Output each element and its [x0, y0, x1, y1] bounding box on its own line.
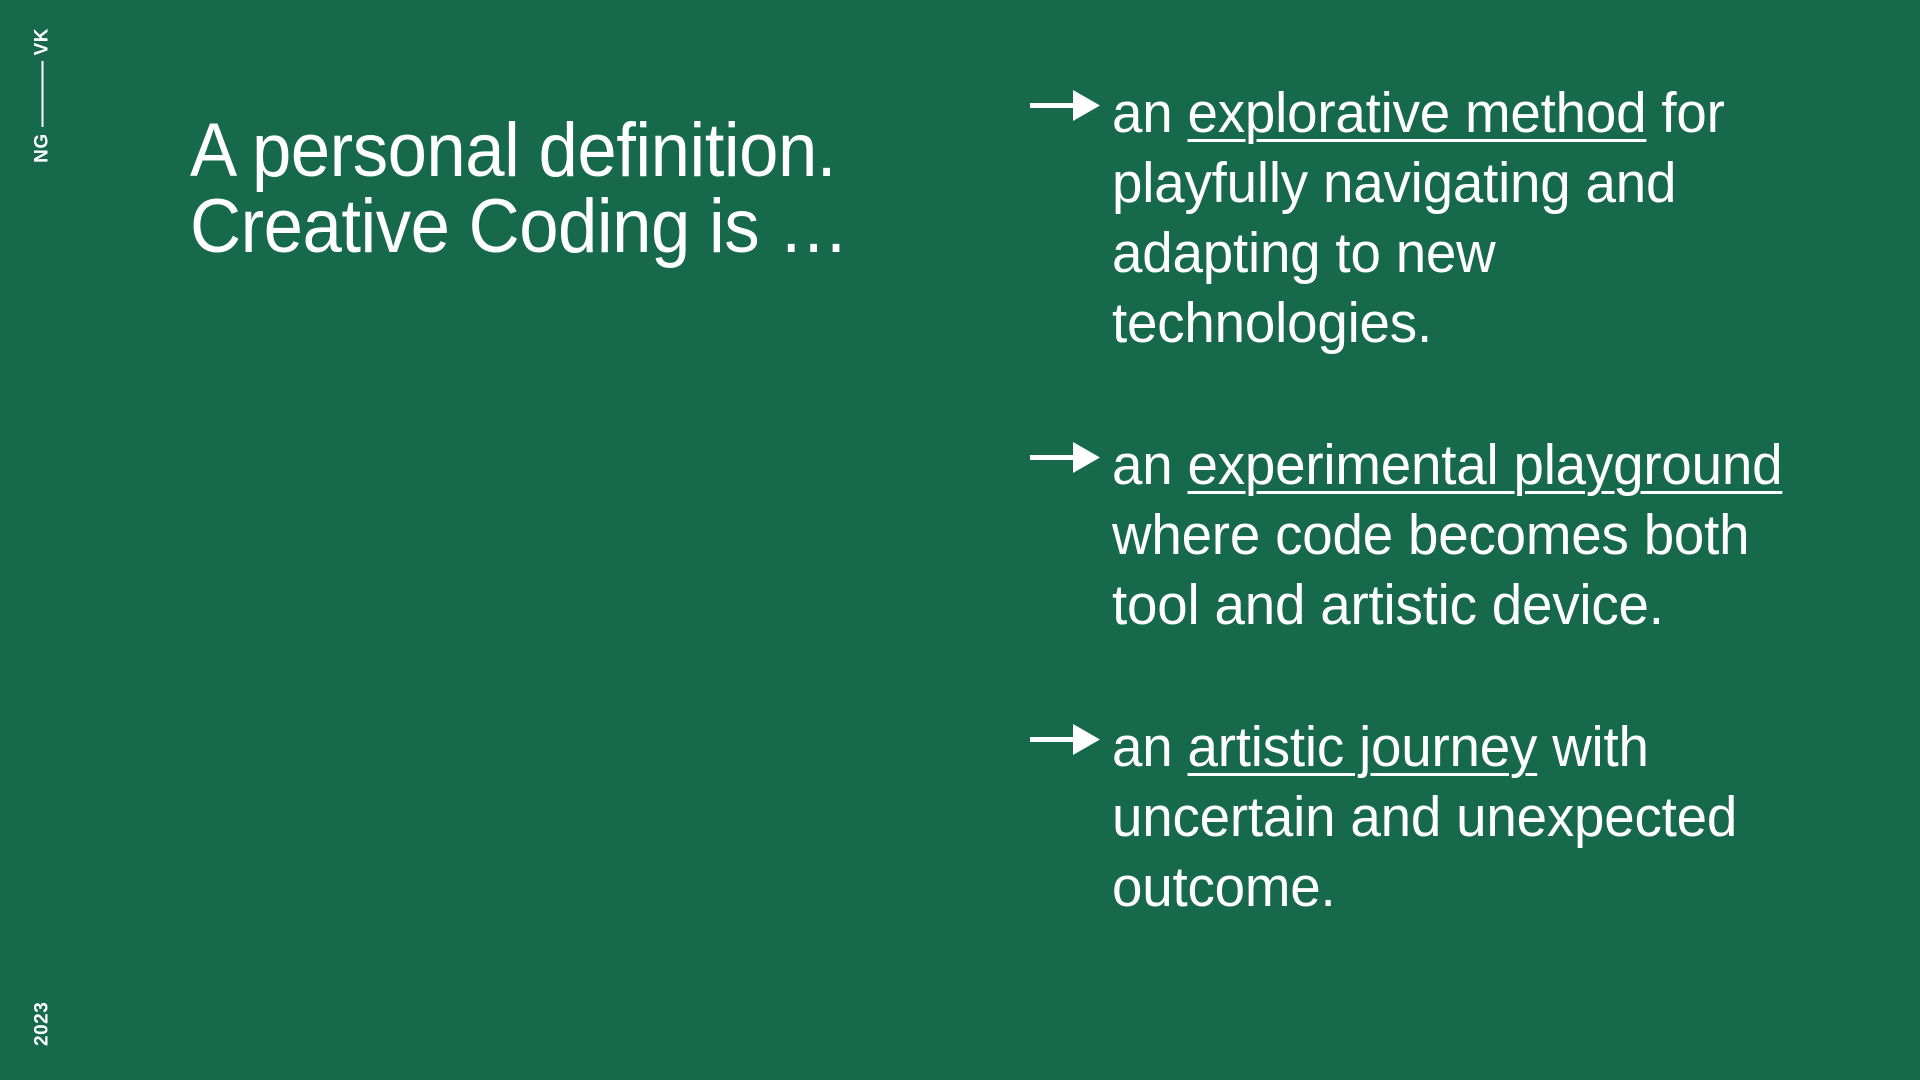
slide-root: NG VK 2023 A personal definition. Creati…	[0, 0, 1920, 1080]
sidebar-rule-divider	[41, 61, 43, 127]
arrow-right-icon	[1030, 712, 1112, 762]
sidebar-year-label: 2023	[33, 1002, 52, 1046]
list-item-text: an artistic journey with uncertain and u…	[1112, 712, 1792, 922]
list-item-lead: an	[1112, 715, 1187, 779]
definition-list: an explorative method for playfully navi…	[1030, 78, 1820, 922]
list-item: an artistic journey with uncertain and u…	[1030, 712, 1820, 922]
sidebar-mark-left: NG	[33, 133, 52, 163]
sidebar-mark: NG VK	[18, 28, 66, 228]
page-title: A personal definition. Creative Coding i…	[190, 113, 897, 265]
list-item-rest: where code becomes both tool and artisti…	[1112, 503, 1749, 637]
list-item-lead: an	[1112, 81, 1187, 145]
list-item-emphasis: explorative method	[1187, 81, 1646, 145]
list-item: an explorative method for playfully navi…	[1030, 78, 1820, 358]
list-item-lead: an	[1112, 433, 1187, 497]
arrow-right-icon	[1030, 430, 1112, 480]
arrow-right-icon	[1030, 78, 1112, 128]
list-item-emphasis: artistic journey	[1187, 715, 1537, 779]
list-item-emphasis: experimental playground	[1187, 433, 1782, 497]
list-item-text: an experimental playground where code be…	[1112, 430, 1792, 640]
sidebar-year: 2023	[18, 956, 66, 1046]
sidebar-mark-right: VK	[33, 28, 52, 55]
list-item: an experimental playground where code be…	[1030, 430, 1820, 640]
list-item-text: an explorative method for playfully navi…	[1112, 78, 1792, 358]
